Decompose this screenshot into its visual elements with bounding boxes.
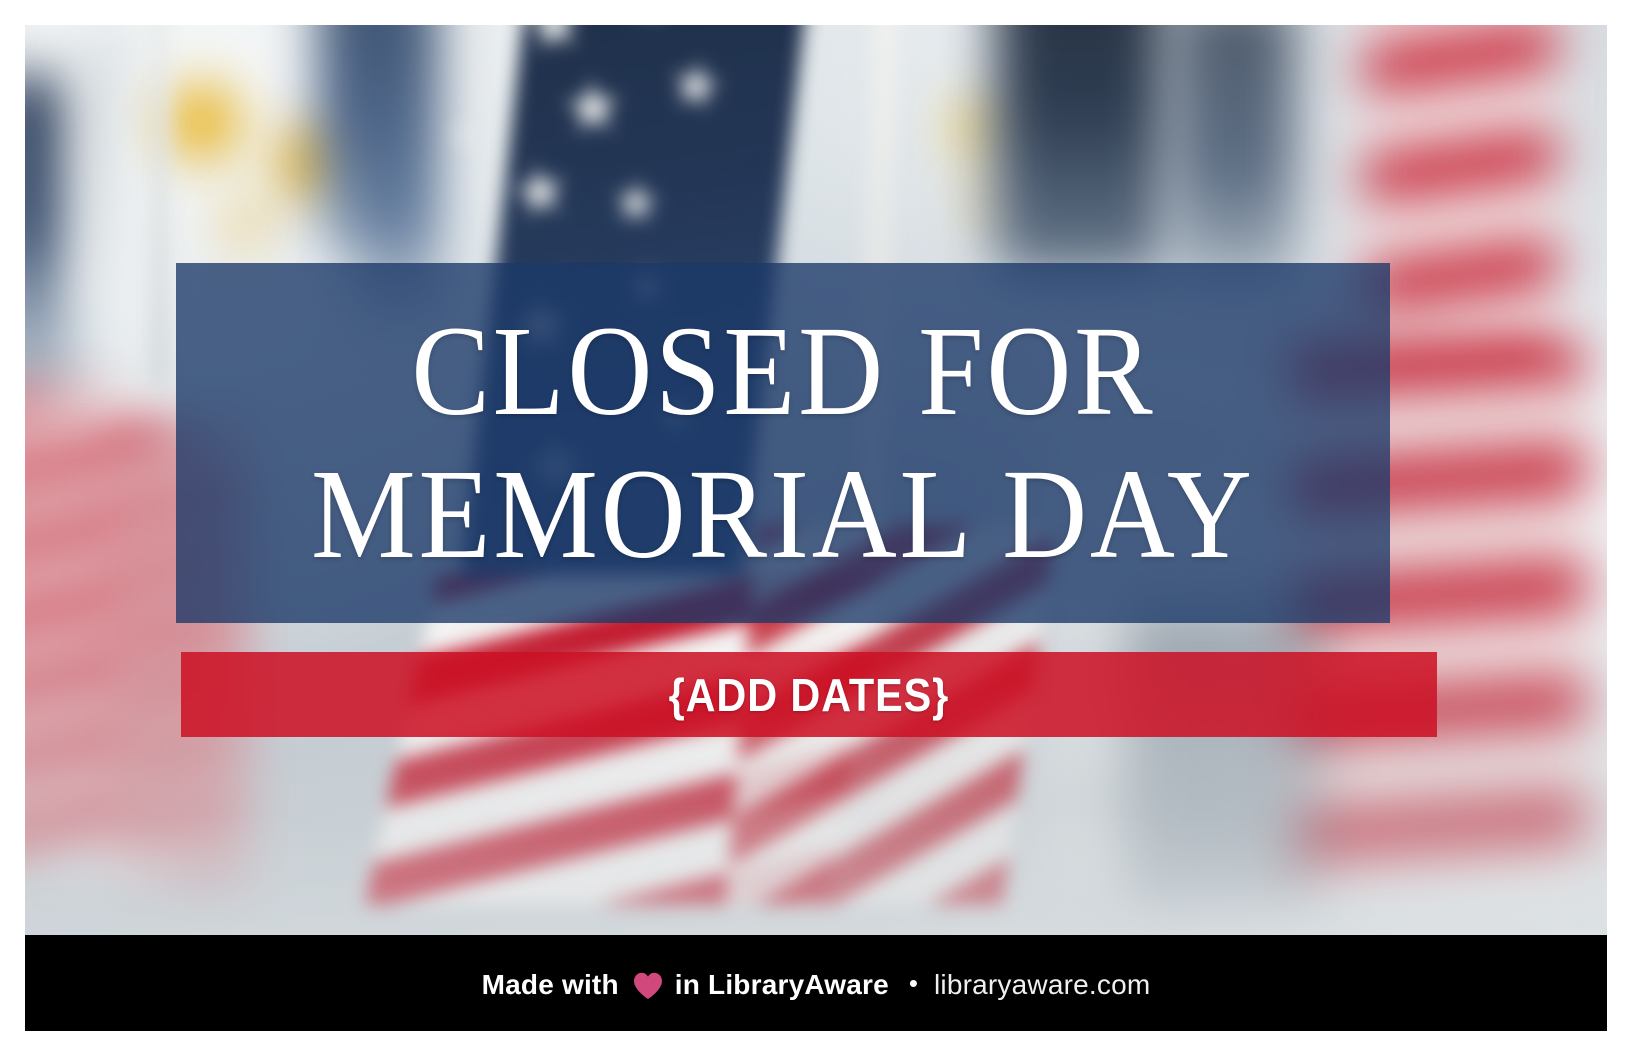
footer-url[interactable]: libraryaware.com [934,969,1150,1001]
footer-content: Made with in LibraryAware • libraryaware… [482,969,1151,1001]
footer-made-with-label: Made with [482,969,619,1001]
flag-star [441,111,489,159]
flagpole-left [151,25,169,385]
heart-icon [633,972,663,1000]
dates-band[interactable]: {ADD DATES} [181,652,1437,737]
dates-placeholder-text[interactable]: {ADD DATES} [669,668,950,722]
footer-bar: Made with in LibraryAware • libraryaware… [25,935,1607,1031]
headline-line-2: MEMORIAL DAY [311,443,1255,586]
headline-band: CLOSED FOR MEMORIAL DAY [176,263,1390,623]
poster-canvas: CLOSED FOR MEMORIAL DAY {ADD DATES} Made… [25,25,1607,1031]
headline-line-1: CLOSED FOR [411,300,1155,443]
footer-brand-label: in LibraryAware [675,969,889,1001]
